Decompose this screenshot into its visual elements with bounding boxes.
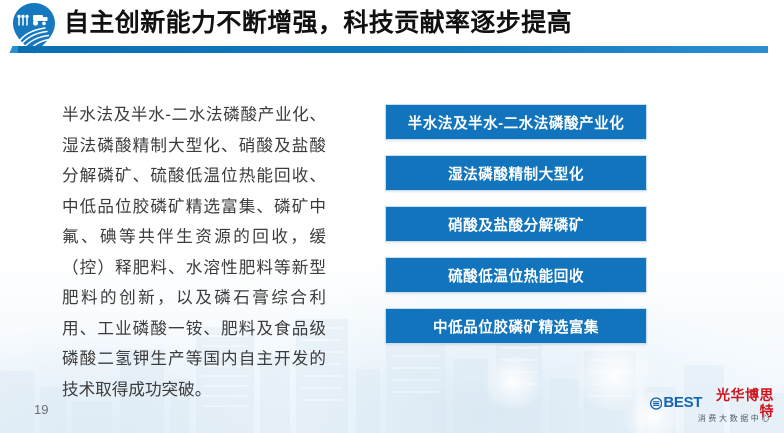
page-title: 自主创新能力不断增强，科技贡献率逐步提高 bbox=[64, 6, 572, 40]
tech-box-2[interactable]: 湿法磷酸精制大型化 bbox=[385, 155, 647, 191]
header-rule bbox=[18, 46, 768, 53]
brand-logo: BEST 光华博思特 消费大数据中心 bbox=[650, 394, 774, 426]
brand-circle-icon bbox=[650, 397, 662, 410]
technology-box-list: 半水法及半水-二水法磷酸产业化 湿法磷酸精制大型化 硝酸及盐酸分解磷矿 硫酸低温… bbox=[385, 104, 647, 344]
background-glow-1 bbox=[570, 340, 660, 410]
body-paragraph: 半水法及半水-二水法磷酸产业化、湿法磷酸精制大型化、硝酸及盐酸分解磷矿、硫酸低温… bbox=[62, 100, 326, 405]
brand-subtitle: 消费大数据中心 bbox=[650, 413, 774, 424]
tech-box-5[interactable]: 中低品位胶磷矿精选富集 bbox=[385, 308, 647, 344]
tech-box-1[interactable]: 半水法及半水-二水法磷酸产业化 bbox=[385, 104, 647, 140]
slide: 自主创新能力不断增强，科技贡献率逐步提高 半水法及半水-二水法磷酸产业化、湿法磷… bbox=[0, 0, 784, 433]
background-glow-3 bbox=[478, 356, 548, 408]
brand-mark: BEST bbox=[663, 395, 702, 411]
tech-box-4[interactable]: 硫酸低温位热能回收 bbox=[385, 257, 647, 293]
tech-box-3[interactable]: 硝酸及盐酸分解磷矿 bbox=[385, 206, 647, 242]
page-number: 19 bbox=[34, 402, 48, 417]
slide-header: 自主创新能力不断增强，科技贡献率逐步提高 bbox=[0, 0, 784, 56]
